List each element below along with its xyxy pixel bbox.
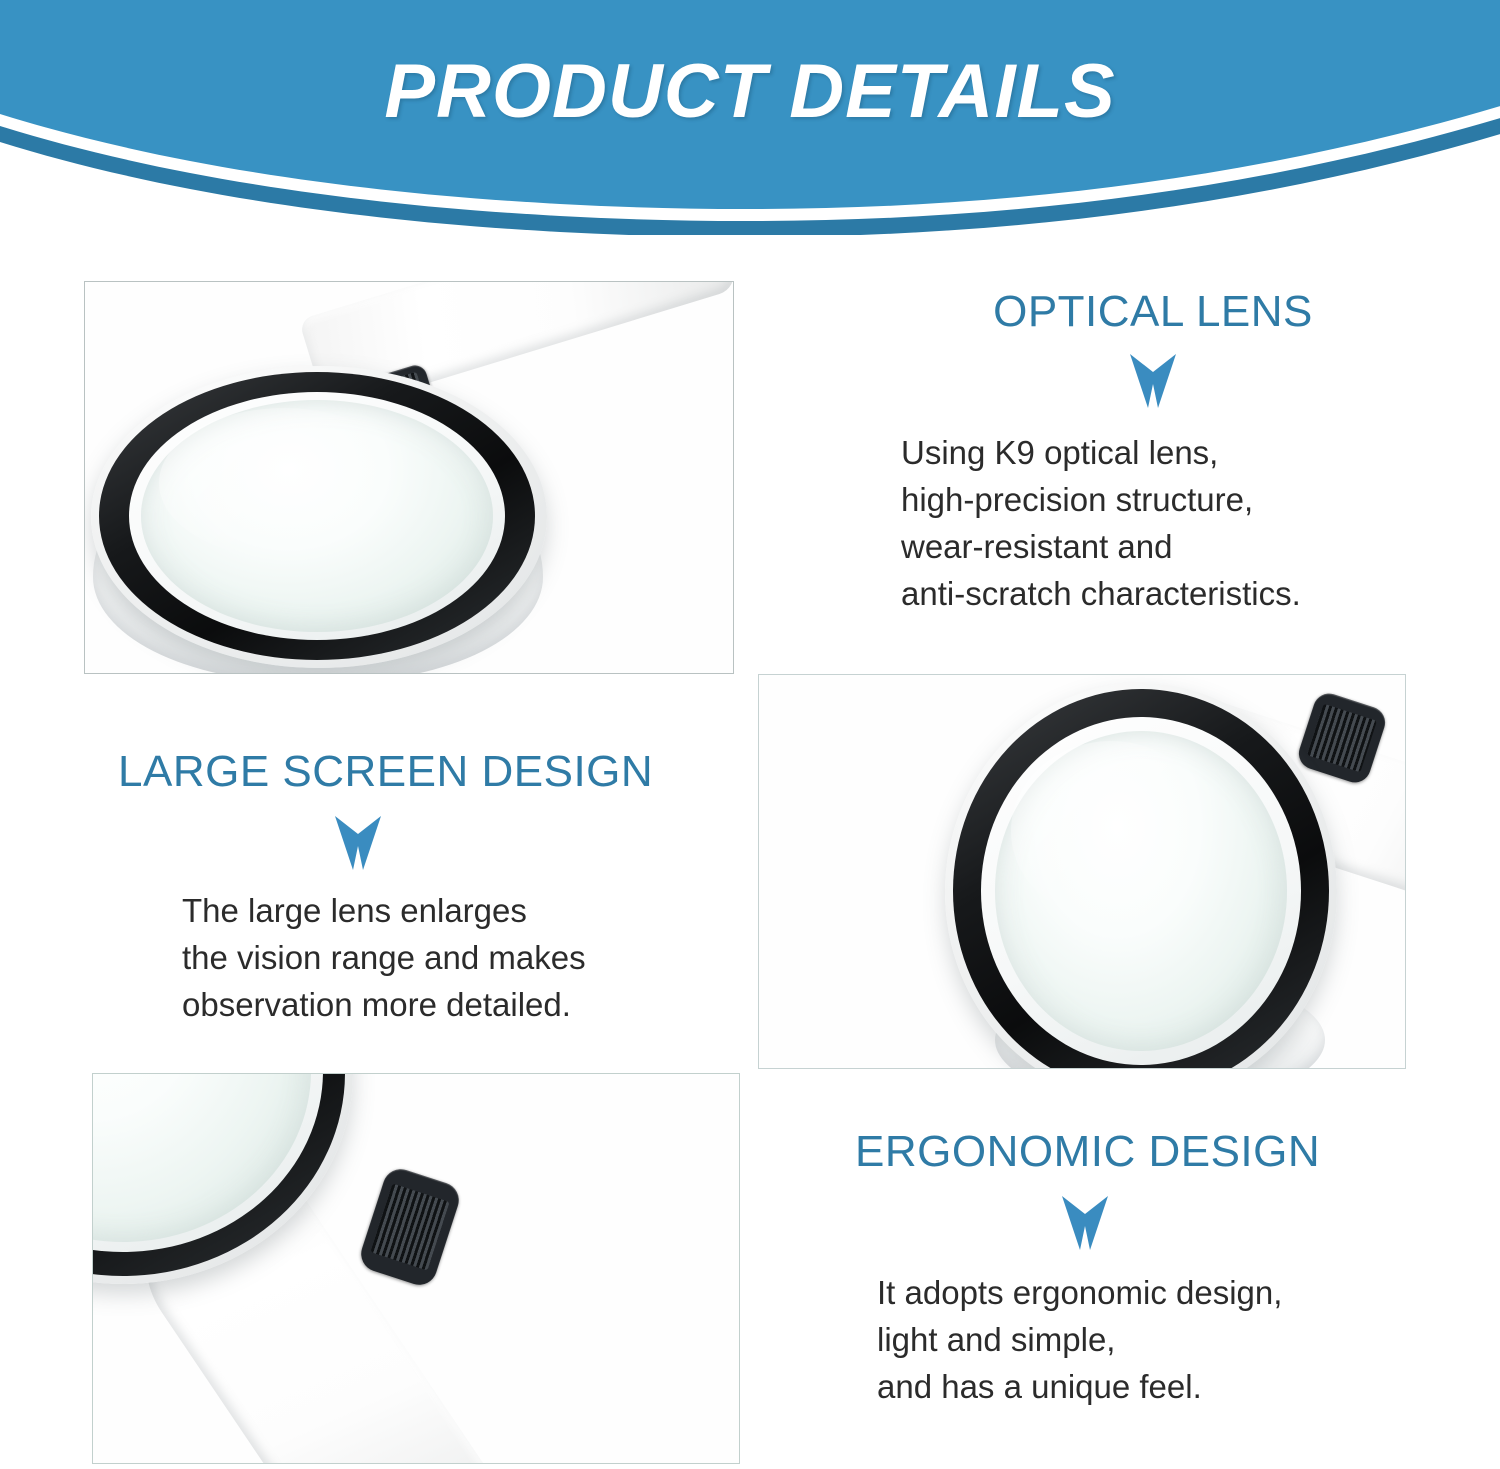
feature-title-large-screen-design: LARGE SCREEN DESIGN bbox=[118, 748, 718, 796]
arrow-down-icon bbox=[332, 812, 384, 874]
feature-large-screen-design: LARGE SCREEN DESIGN The large lens enlar… bbox=[118, 748, 718, 1029]
arrow-down-icon bbox=[1059, 1192, 1111, 1254]
feature-body-ergonomic-design: It adopts ergonomic design, light and si… bbox=[855, 1270, 1375, 1411]
arrow-down-container bbox=[855, 1192, 1315, 1254]
photo-magnifier-full-view bbox=[84, 281, 734, 674]
magnifier-illustration-lens bbox=[759, 675, 1405, 1068]
feature-title-ergonomic-design: ERGONOMIC DESIGN bbox=[855, 1128, 1375, 1176]
arrow-down-container bbox=[118, 812, 598, 874]
header-banner: PRODUCT DETAILS bbox=[0, 0, 1500, 235]
feature-body-optical-lens: Using K9 optical lens, high-precision st… bbox=[893, 430, 1413, 617]
magnifier-illustration-handle bbox=[93, 1074, 739, 1463]
feature-optical-lens: OPTICAL LENS Using K9 optical lens, high… bbox=[893, 288, 1413, 618]
feature-body-large-screen-design: The large lens enlarges the vision range… bbox=[118, 888, 718, 1029]
arrow-down-icon bbox=[1127, 350, 1179, 412]
switch-ribs-icon bbox=[1307, 704, 1377, 772]
arrow-down-container bbox=[893, 350, 1413, 412]
magnifier-lens-glass bbox=[141, 400, 493, 632]
page-title: PRODUCT DETAILS bbox=[0, 48, 1500, 135]
magnifier-power-switch[interactable] bbox=[357, 1165, 464, 1290]
feature-ergonomic-design: ERGONOMIC DESIGN It adopts ergonomic des… bbox=[855, 1128, 1375, 1411]
switch-ribs-icon bbox=[371, 1184, 450, 1271]
magnifier-illustration-full bbox=[85, 282, 733, 673]
photo-magnifier-lens-closeup bbox=[758, 674, 1406, 1069]
feature-title-optical-lens: OPTICAL LENS bbox=[893, 288, 1413, 336]
magnifier-lens-glass bbox=[995, 731, 1287, 1051]
photo-magnifier-handle-closeup bbox=[92, 1073, 740, 1464]
